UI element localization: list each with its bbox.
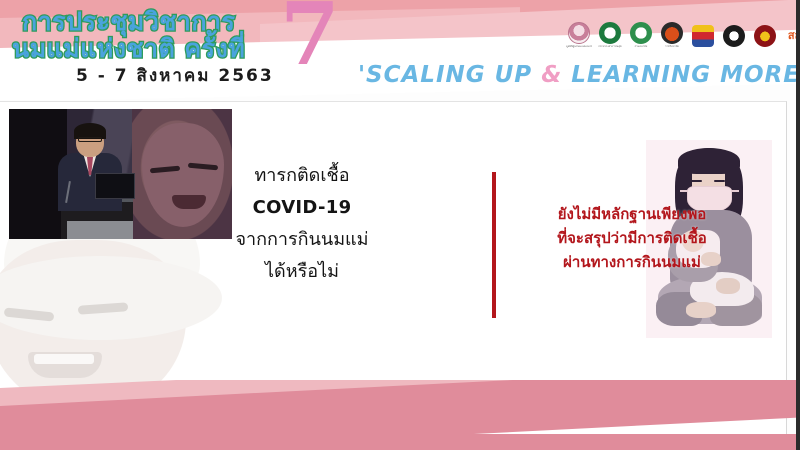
presenter-video-thumbnail[interactable] — [9, 109, 232, 239]
logo-caption: กรมอนามัย — [628, 45, 654, 49]
thai-breastfeeding-foundation-logo: มูลนิธิศูนย์นมแม่แห่งประเทศไทย — [566, 22, 592, 49]
royal-college-logo: ราชวิทยาลัย — [659, 22, 685, 49]
logo-caption: มูลนิธิศูนย์นมแม่แห่งประเทศไทย — [566, 45, 592, 49]
watermark-face — [0, 240, 186, 412]
royal-crest-logo — [752, 25, 778, 47]
question-text-block: ทารกติดเชื้อ COVID-19 จากการกินนมแม่ ได้… — [212, 160, 392, 288]
logo-mark — [568, 22, 590, 44]
answer-line: ยังไม่มีหลักฐานเพียงพอ — [504, 202, 760, 226]
ministry-of-public-health-logo: กระทรวงสาธารณสุข — [597, 22, 623, 49]
watermark-body — [98, 388, 248, 448]
video-laptop — [95, 173, 135, 199]
logo-mark — [661, 22, 683, 44]
organizer-logo-strip: มูลนิธิศูนย์นมแม่แห่งประเทศไทย กระทรวงสา… — [566, 22, 800, 49]
answer-text-block: ยังไม่มีหลักฐานเพียงพอ ที่จะสรุปว่ามีการ… — [504, 202, 760, 274]
mother-foot — [686, 302, 716, 318]
answer-line: ที่จะสรุปว่ามีการติดเชื้อ — [504, 226, 760, 250]
mother-eye-left — [691, 180, 702, 182]
question-line: COVID-19 — [212, 192, 392, 224]
mother-hand-secondary — [716, 278, 740, 294]
mother-eye-right — [714, 180, 725, 182]
slide-screenshot: 7 การประชุมวิชาการ นมแม่แห่งชาติ ครั้งที… — [0, 0, 800, 450]
slide-canvas: ทารกติดเชื้อ COVID-19 จากการกินนมแม่ ได้… — [0, 101, 787, 450]
question-line: ทารกติดเชื้อ — [212, 160, 392, 192]
logo-mark — [692, 25, 714, 47]
logo-mark — [754, 25, 776, 47]
video-baby-mouth — [172, 195, 206, 209]
tagline-pre: 'SCALING UP — [358, 62, 541, 88]
watermark-hat-brim — [0, 256, 222, 340]
red-vertical-divider — [492, 172, 496, 318]
department-of-health-logo: กรมอนามัย — [628, 22, 654, 49]
logo-mark — [599, 22, 621, 44]
watermark-eye-left — [4, 307, 55, 321]
conference-date: 5 - 7 สิงหาคม 2563 — [76, 62, 274, 89]
answer-line: ผ่านทางการกินนมแม่ — [504, 250, 760, 274]
window-right-edge — [796, 0, 800, 450]
question-line: ได้หรือไม่ — [212, 256, 392, 288]
face-mask-strap-right — [731, 190, 739, 192]
national-emblem-logo — [690, 25, 716, 47]
logo-mark — [723, 25, 745, 47]
video-podium-base — [67, 221, 133, 239]
university-seal-logo — [721, 25, 747, 47]
logo-caption: ราชวิทยาลัย — [659, 45, 685, 49]
conference-tagline: 'SCALING UP & LEARNING MORE' — [358, 62, 796, 88]
watermark-mouth — [28, 352, 102, 378]
logo-mark — [630, 22, 652, 44]
question-line: จากการกินนมแม่ — [212, 224, 392, 256]
page-number: 6 — [738, 384, 742, 392]
tagline-ampersand: & — [541, 62, 562, 88]
edition-number: 7 — [280, 0, 340, 78]
logo-caption: กระทรวงสาธารณสุข — [597, 45, 623, 49]
glasses-icon — [78, 137, 102, 142]
watermark-eye-right — [78, 302, 129, 314]
tagline-post: LEARNING MORE' — [562, 62, 796, 88]
watermark-teeth — [34, 354, 94, 364]
conference-header-banner: 7 การประชุมวิชาการ นมแม่แห่งชาติ ครั้งที… — [0, 0, 796, 100]
